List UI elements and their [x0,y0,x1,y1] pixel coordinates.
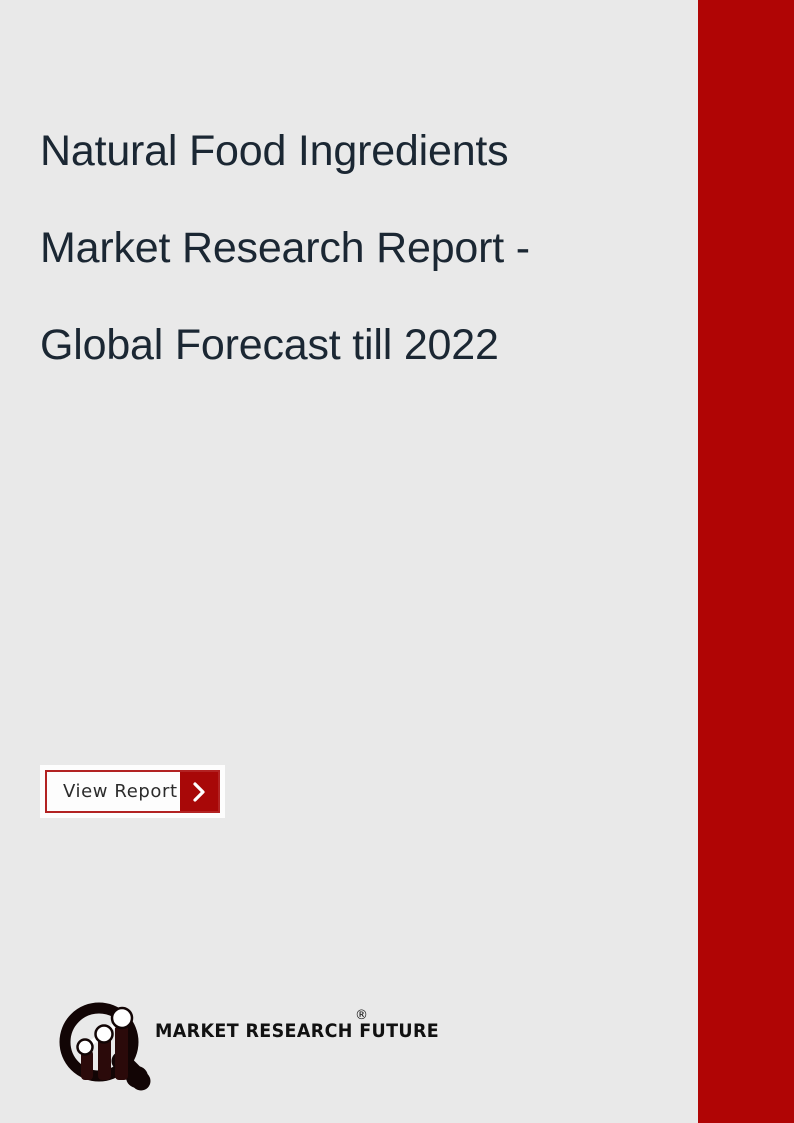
view-report-button[interactable]: View Report [45,770,220,813]
title-line-2: Market Research Report - [40,200,620,297]
registered-trademark-icon: ® [355,1008,368,1023]
brand-wordmark: MARKET RESEARCH FUTURE ® [155,1020,464,1042]
page-title: Natural Food Ingredients Market Research… [40,103,620,394]
title-line-3: Global Forecast till 2022 [40,297,620,394]
view-report-button-label: View Report [47,772,180,811]
right-accent-stripe [698,0,794,1123]
chevron-right-icon [180,772,218,811]
brand-logo: MARKET RESEARCH FUTURE ® [55,998,464,1094]
view-report-button-frame: View Report [40,765,225,818]
title-line-1: Natural Food Ingredients [40,103,620,200]
cover-content-area: Natural Food Ingredients Market Research… [0,0,698,1123]
brand-name: MARKET RESEARCH FUTURE [155,1020,439,1042]
report-cover-page: Natural Food Ingredients Market Research… [0,0,794,1123]
magnifier-bar-chart-icon [55,998,151,1094]
